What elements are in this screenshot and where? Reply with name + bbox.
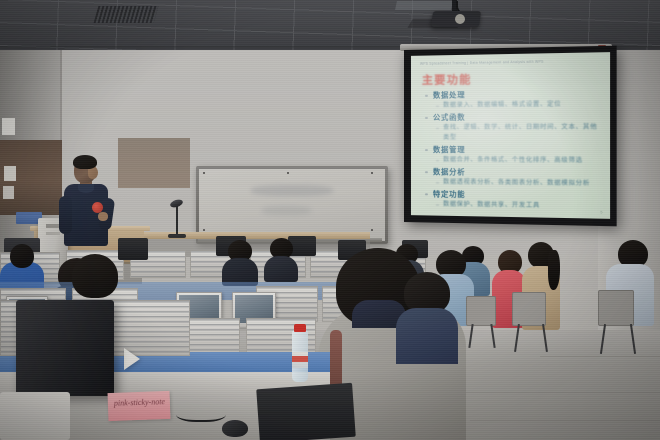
whiteboard-erased-writing (262, 206, 310, 215)
attendee-torso (396, 308, 458, 364)
whiteboard-surface (199, 169, 385, 241)
presenter-collar (78, 184, 94, 193)
attendee-head (10, 244, 34, 268)
whiteboard-screw (371, 229, 373, 231)
tower-drive-bay (46, 232, 60, 235)
wall-paper-sheet (4, 166, 16, 181)
foreground-keyboard[interactable] (256, 383, 356, 440)
whiteboard-erased-writing (251, 185, 333, 197)
floor-tile-line (540, 356, 660, 357)
foreground-monitor-stand (0, 392, 70, 440)
chair-back[interactable] (512, 292, 546, 326)
mouse-cable (176, 404, 226, 422)
projector-lens (455, 14, 465, 24)
chair-back[interactable] (466, 296, 496, 326)
monitor-rear (118, 238, 148, 260)
ceiling-air-vent (94, 6, 159, 23)
slide-surface: WPS Spreadsheet Training | Data Manageme… (411, 52, 610, 219)
presenter-arm-left (59, 196, 72, 234)
chair-back[interactable] (598, 290, 634, 326)
wall-notice-paper (2, 118, 15, 135)
classroom-photograph: WPS Spreadsheet Training | Data Manageme… (0, 0, 660, 440)
foreground-monitor-rear (16, 300, 114, 396)
bottle-label-stripe (292, 356, 308, 362)
whiteboard-screw (203, 172, 205, 174)
computer-mouse[interactable] (222, 420, 248, 437)
attendee-hair (548, 250, 560, 290)
wall-wood-panel-center (118, 138, 190, 188)
floor-tile-line (470, 420, 660, 421)
floor-tile-line (440, 392, 660, 393)
projection-screen: WPS Spreadsheet Training | Data Manageme… (404, 46, 617, 227)
presenter-hair (73, 155, 97, 169)
microphone-stand (176, 206, 178, 236)
bottle-cap (294, 324, 306, 332)
projector-glow (411, 52, 610, 219)
tower-drive-bay (46, 224, 60, 228)
pink-sticky-note: pink-sticky-note (108, 391, 171, 421)
whiteboard-screw (371, 172, 373, 174)
microphone-base (168, 234, 186, 238)
whiteboard-screw (287, 172, 289, 174)
folded-paper (124, 348, 140, 370)
presenter-hand (98, 212, 108, 221)
attendee-torso (264, 256, 298, 282)
sticky-note-text: pink-sticky-note (114, 397, 165, 408)
ceiling-light (395, 1, 453, 10)
whiteboard-screw (203, 229, 205, 231)
attendee-head (72, 254, 118, 298)
wall-paper-sheet (3, 186, 14, 199)
